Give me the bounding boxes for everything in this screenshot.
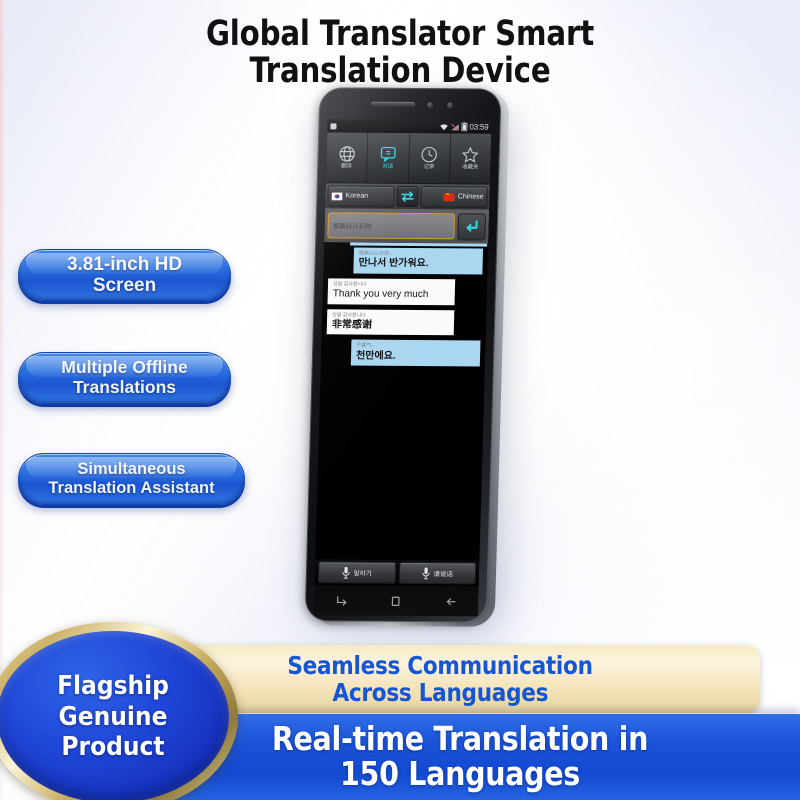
tab-translate[interactable]: 翻译: [326, 132, 369, 182]
seal-line-3: Product: [61, 732, 164, 762]
phone-screen: 03:59 翻译: [315, 119, 492, 586]
signal-off-icon: [450, 123, 459, 131]
status-bar: 03:59: [327, 119, 491, 133]
message-source-text: 정말 감사합니다: [332, 312, 449, 319]
speech-bubble-icon: [378, 145, 398, 164]
feature-badge-line-1: Simultaneous: [77, 460, 185, 478]
proximity-sensor-icon: [427, 102, 433, 108]
mic-button-target-label: 请说话: [433, 568, 453, 578]
swap-arrows-icon: [400, 191, 414, 202]
feature-badge-simultaneous-assistant: Simultaneous Translation Assistant: [18, 453, 245, 505]
message-bubble[interactable]: 很高兴认识您。 만나서 반가워요.: [353, 248, 483, 275]
back-icon[interactable]: [444, 595, 457, 608]
feature-badge-line-2: Screen: [93, 275, 156, 296]
message-source-text: 不客气。: [356, 343, 475, 350]
message-translated-text: 만나서 반가워요.: [358, 258, 477, 270]
translation-input-value: 很高兴认识你: [333, 220, 372, 230]
tab-dialogue[interactable]: 对话: [367, 133, 410, 183]
status-bar-time: 03:59: [469, 123, 488, 131]
microphone-icon: [342, 566, 350, 579]
language-selector-row: Korean Chinese: [325, 183, 490, 209]
conversation-list[interactable]: 很高兴认识你 很高兴认识您。 만나서 반가워요. 정말 감사합니다 Thank …: [315, 242, 488, 560]
message-source-text: 很高兴认识您。: [359, 251, 478, 258]
flag-china-icon: [444, 193, 455, 201]
page-title-line-2: Translation Device: [28, 53, 772, 90]
feature-badge-hd-screen: 3.81-inch HD Screen: [18, 249, 231, 301]
mic-button-target[interactable]: 请说话: [398, 562, 476, 585]
tab-dialogue-label: 对话: [382, 165, 393, 171]
tab-favorites[interactable]: 收藏夹: [450, 133, 492, 183]
mic-button-source-label: 말하기: [354, 567, 372, 577]
page-title: Global Translator Smart Translation Devi…: [28, 16, 772, 91]
page-title-line-1: Global Translator Smart: [28, 16, 772, 53]
notification-icon: [330, 123, 336, 129]
target-language-label: Chinese: [458, 193, 484, 200]
microphone-icon: [421, 566, 429, 579]
flag-south-korea-icon: [331, 192, 342, 200]
message-bubble[interactable]: 정말 감사합니다 Thank you very much: [327, 278, 455, 305]
message-translated-text: Thank you very much: [333, 288, 450, 300]
tab-translate-label: 翻译: [341, 165, 352, 171]
feature-badge-line-2: Translation Assistant: [48, 479, 214, 497]
message-translated-text: 非常感谢: [332, 319, 449, 331]
enter-arrow-icon: [463, 219, 479, 234]
message-bubble[interactable]: 정말 감사합니다 非常感谢: [327, 309, 455, 336]
seal-inner-circle: Flagship Genuine Product: [0, 631, 229, 800]
front-camera-icon: [447, 102, 453, 108]
tab-favorites-label: 收藏夹: [462, 166, 478, 172]
feature-badge-line-1: Multiple Offline: [61, 357, 187, 377]
star-icon: [461, 146, 481, 165]
tab-history[interactable]: 记录: [408, 133, 451, 183]
cream-banner-line-2: Across Languages: [332, 680, 548, 707]
menu-icon[interactable]: [335, 594, 348, 607]
microphone-button-row: 말하기 请说话: [315, 559, 480, 586]
source-language-label: Korean: [345, 192, 368, 199]
target-language-button[interactable]: Chinese: [420, 186, 488, 208]
globe-icon: [337, 145, 357, 164]
feature-badge-line-2: Translations: [73, 377, 176, 397]
app-tab-bar: 翻译 对话 记录: [326, 132, 491, 184]
message-translated-text: 천만에요.: [356, 350, 475, 362]
genuine-product-seal: Flagship Genuine Product: [0, 622, 238, 800]
wifi-icon: [439, 123, 448, 131]
blue-banner-line-1: Real-time Translation in: [272, 722, 648, 757]
battery-icon: [461, 122, 467, 131]
home-icon[interactable]: [390, 594, 403, 607]
product-phone: 03:59 翻译: [284, 75, 530, 641]
translation-input[interactable]: 很高兴认识你: [327, 212, 455, 239]
earpiece-speaker: [371, 102, 415, 107]
blue-banner-line-2: 150 Languages: [340, 757, 580, 792]
cream-banner-line-1: Seamless Communication: [287, 653, 592, 680]
android-navigation-bar: [314, 585, 479, 616]
clock-icon: [420, 145, 440, 164]
seal-line-1: Flagship: [57, 671, 169, 701]
tab-history-label: 记录: [424, 165, 435, 171]
clipped-message-bubble: 很高兴认识你: [350, 242, 487, 246]
source-language-button[interactable]: Korean: [327, 185, 395, 207]
message-bubble[interactable]: 不客气。 천만에요.: [351, 340, 481, 367]
mic-button-source[interactable]: 말하기: [318, 561, 396, 584]
swap-languages-button[interactable]: [396, 186, 419, 207]
message-source-text: 정말 감사합니다: [333, 281, 450, 288]
phone-body: 03:59 翻译: [305, 87, 502, 622]
feature-badge-line-1: 3.81-inch HD: [67, 254, 182, 275]
feature-badge-offline-translations: Multiple Offline Translations: [18, 352, 231, 404]
send-button[interactable]: [457, 213, 486, 240]
seal-line-2: Genuine: [59, 702, 168, 732]
translation-input-row: 很高兴认识你: [324, 208, 489, 243]
